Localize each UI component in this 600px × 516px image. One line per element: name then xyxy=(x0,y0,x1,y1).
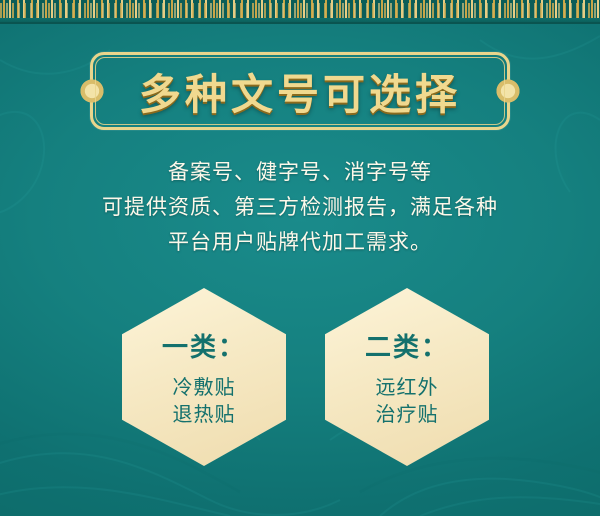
body-line-1: 备案号、健字号、消字号等 xyxy=(0,155,600,190)
card-1-items: 冷敷贴 退热贴 xyxy=(173,374,236,428)
top-border-pattern xyxy=(0,3,600,18)
top-decorative-border xyxy=(0,0,600,24)
card-1-item-2: 退热贴 xyxy=(173,401,236,428)
poster-title: 多种文号可选择 xyxy=(90,52,510,130)
card-2-items: 远红外 治疗贴 xyxy=(376,374,439,428)
body-line-3: 平台用户贴牌代加工需求。 xyxy=(0,225,600,260)
poster-canvas: 多种文号可选择 备案号、健字号、消字号等 可提供资质、第三方检测报告，满足各种 … xyxy=(0,0,600,516)
card-1-title: 一类： xyxy=(162,327,246,364)
hexagon-card-group: 一类： 冷敷贴 退热贴 二类： 远红外 治疗贴 xyxy=(0,288,600,468)
card-2-title: 二类： xyxy=(365,327,449,364)
body-line-2: 可提供资质、第三方检测报告，满足各种 xyxy=(0,190,600,225)
title-plaque: 多种文号可选择 xyxy=(90,52,510,130)
hexagon-card-category-1: 一类： 冷敷贴 退热贴 xyxy=(122,288,286,466)
poster-body: 备案号、健字号、消字号等 可提供资质、第三方检测报告，满足各种 平台用户贴牌代加… xyxy=(0,155,600,260)
card-2-item-2: 治疗贴 xyxy=(376,401,439,428)
card-2-item-1: 远红外 xyxy=(376,374,439,401)
card-1-item-1: 冷敷贴 xyxy=(173,374,236,401)
hexagon-card-category-2: 二类： 远红外 治疗贴 xyxy=(325,288,489,466)
